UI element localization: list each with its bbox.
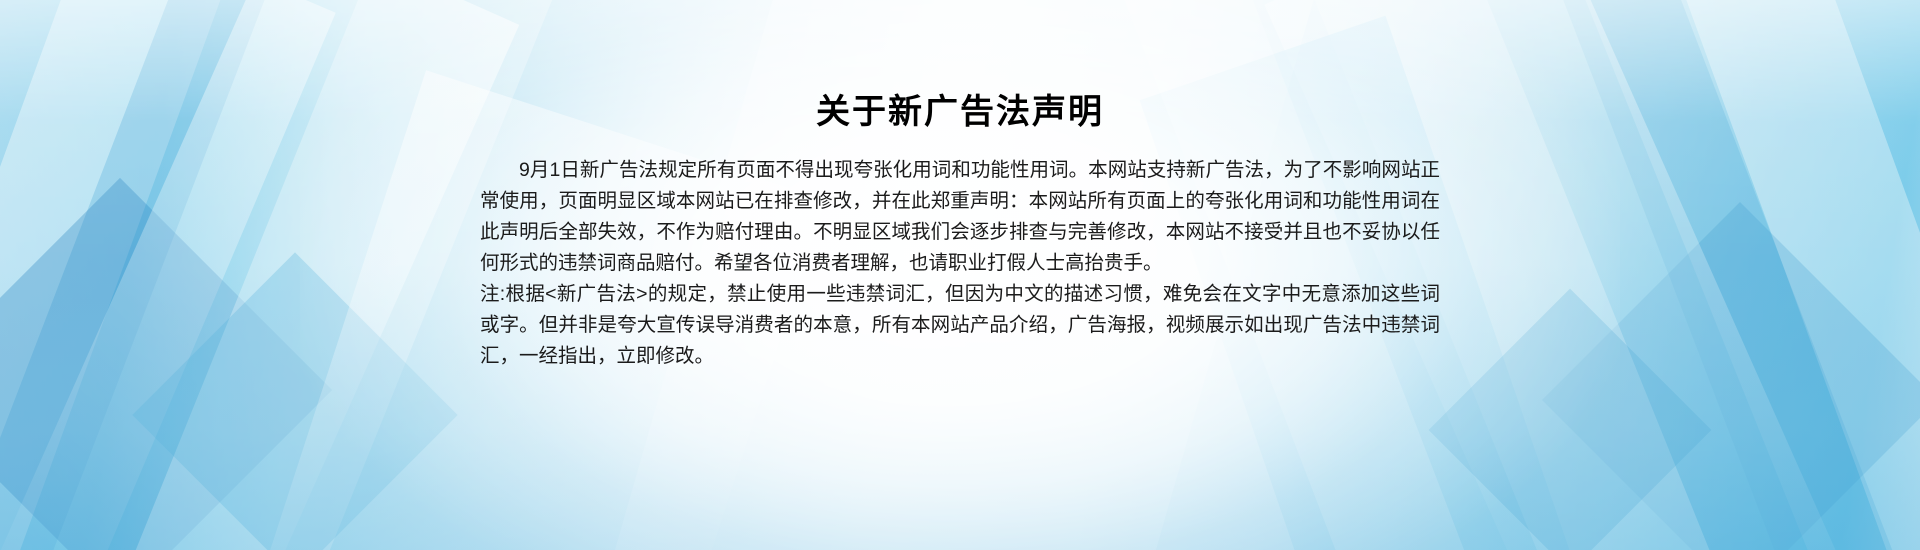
page-title: 关于新广告法声明	[0, 0, 1920, 133]
statement-content: 关于新广告法声明 9月1日新广告法规定所有页面不得出现夸张化用词和功能性用词。本…	[0, 0, 1920, 372]
statement-body: 9月1日新广告法规定所有页面不得出现夸张化用词和功能性用词。本网站支持新广告法，…	[480, 133, 1440, 372]
statement-paragraph-note: 注:根据<新广告法>的规定，禁止使用一些违禁词汇，但因为中文的描述习惯，难免会在…	[480, 279, 1440, 372]
advertising-law-statement-banner: 关于新广告法声明 9月1日新广告法规定所有页面不得出现夸张化用词和功能性用词。本…	[0, 0, 1920, 550]
statement-paragraph-main: 9月1日新广告法规定所有页面不得出现夸张化用词和功能性用词。本网站支持新广告法，…	[480, 155, 1440, 279]
